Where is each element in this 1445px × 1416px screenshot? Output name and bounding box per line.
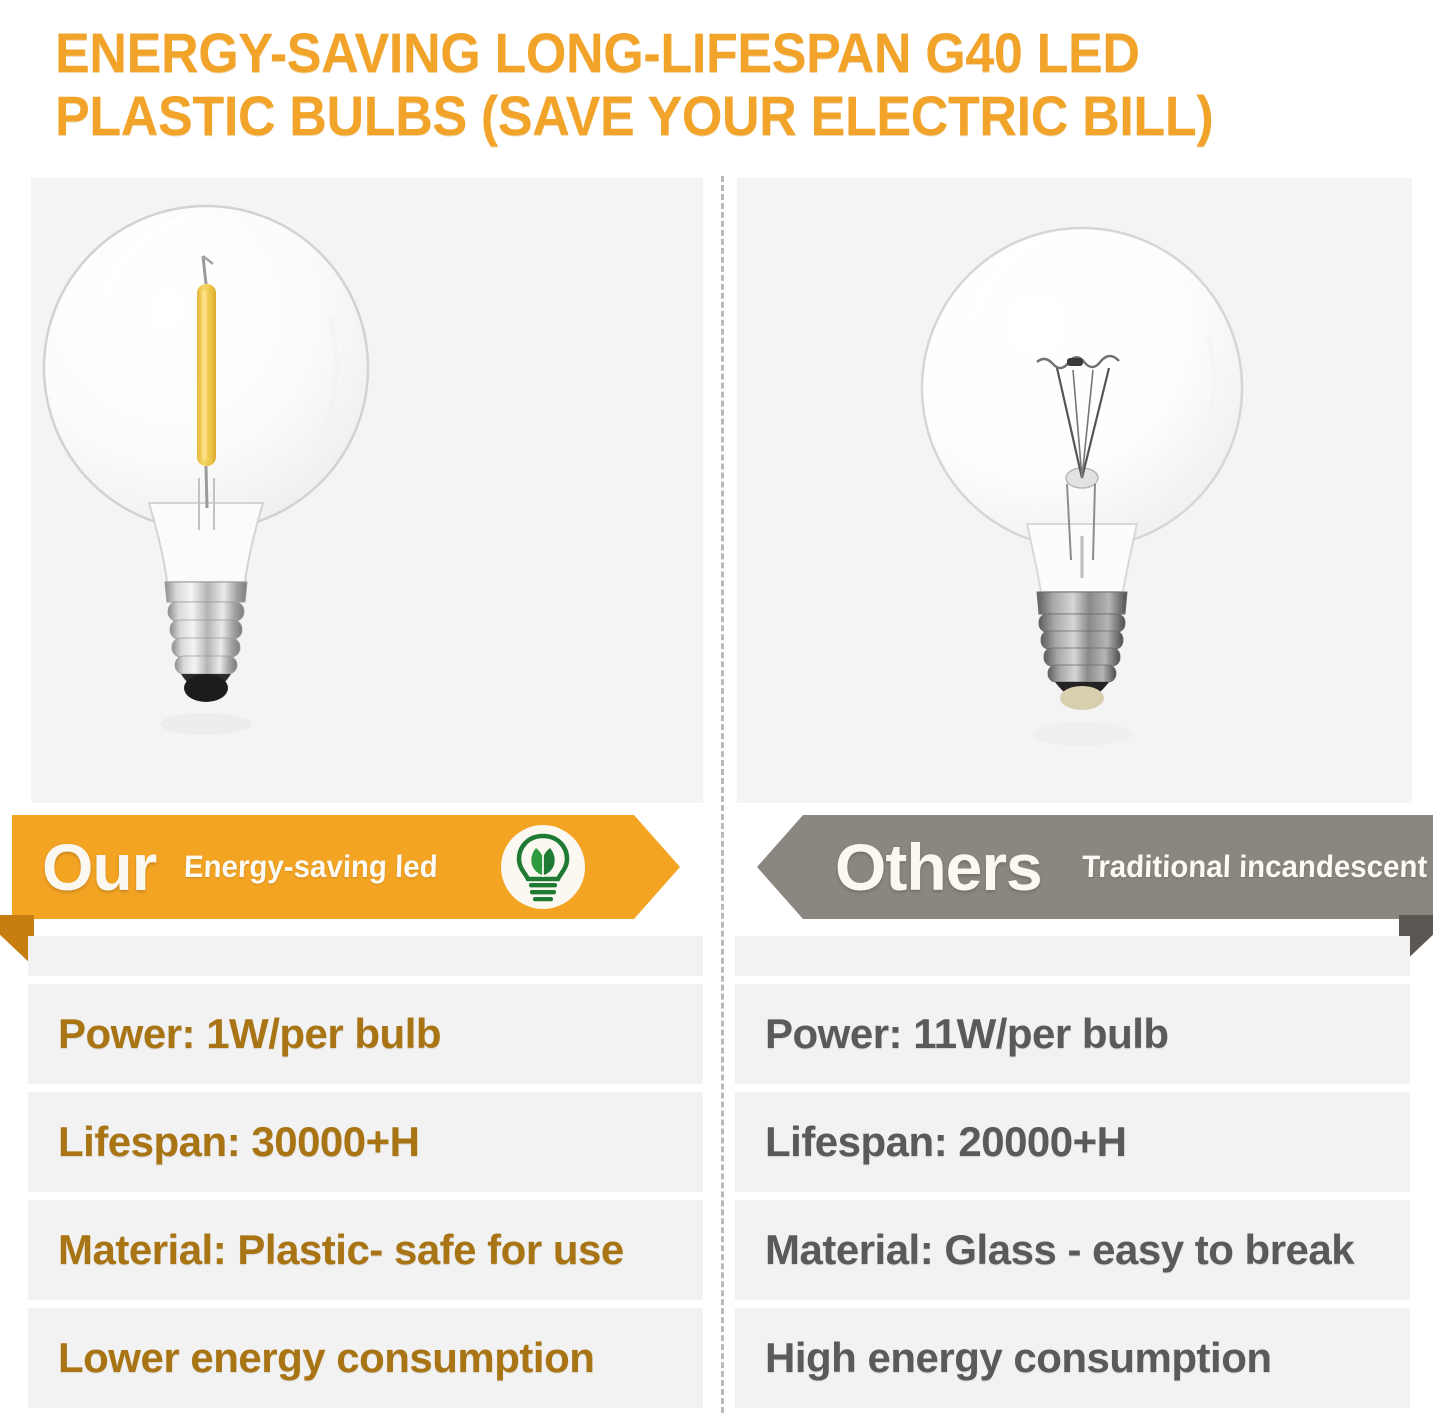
table-row: Material: Glass - easy to break (735, 1200, 1410, 1300)
incandescent-bulb-illustration (737, 178, 1412, 803)
spec-spacer-row (735, 936, 1410, 976)
spec-text: Power: 11W/per bulb (765, 1010, 1169, 1058)
incandescent-bulb-photo-panel (737, 178, 1412, 803)
our-spec-column: Power: 1W/per bulb Lifespan: 30000+H Mat… (28, 936, 703, 1416)
spec-text: Lifespan: 20000+H (765, 1118, 1127, 1166)
spec-text: Material: Glass - easy to break (765, 1226, 1354, 1274)
table-row: Lower energy consumption (28, 1308, 703, 1408)
table-row: Lifespan: 20000+H (735, 1092, 1410, 1192)
spec-spacer-row (28, 936, 703, 976)
table-row: Lifespan: 30000+H (28, 1092, 703, 1192)
table-row: Material: Plastic- safe for use (28, 1200, 703, 1300)
eco-bulb-leaf-icon (499, 823, 587, 911)
our-banner-subtitle: Energy-saving led (184, 849, 439, 885)
spec-text: Material: Plastic- safe for use (58, 1226, 624, 1274)
spec-text: Power: 1W/per bulb (58, 1010, 441, 1058)
others-banner: Others Traditional incandescent (757, 815, 1433, 919)
led-bulb-illustration (31, 178, 703, 803)
table-row: High energy consumption (735, 1308, 1410, 1408)
our-banner-title: Our (42, 834, 156, 900)
spec-text: Lower energy consumption (58, 1334, 594, 1382)
table-row: Power: 11W/per bulb (735, 984, 1410, 1084)
led-bulb-photo-panel (31, 178, 703, 803)
column-divider (721, 176, 724, 1413)
others-spec-column: Power: 11W/per bulb Lifespan: 20000+H Ma… (735, 936, 1410, 1416)
others-banner-title: Others (835, 834, 1042, 900)
our-banner: Our Energy-saving led (12, 815, 680, 919)
table-row: Power: 1W/per bulb (28, 984, 703, 1084)
others-banner-subtitle: Traditional incandescent (1081, 849, 1428, 885)
page-title: ENERGY-SAVING LONG-LIFESPAN G40 LED PLAS… (55, 0, 1306, 168)
spec-text: Lifespan: 30000+H (58, 1118, 420, 1166)
spec-text: High energy consumption (765, 1334, 1272, 1382)
